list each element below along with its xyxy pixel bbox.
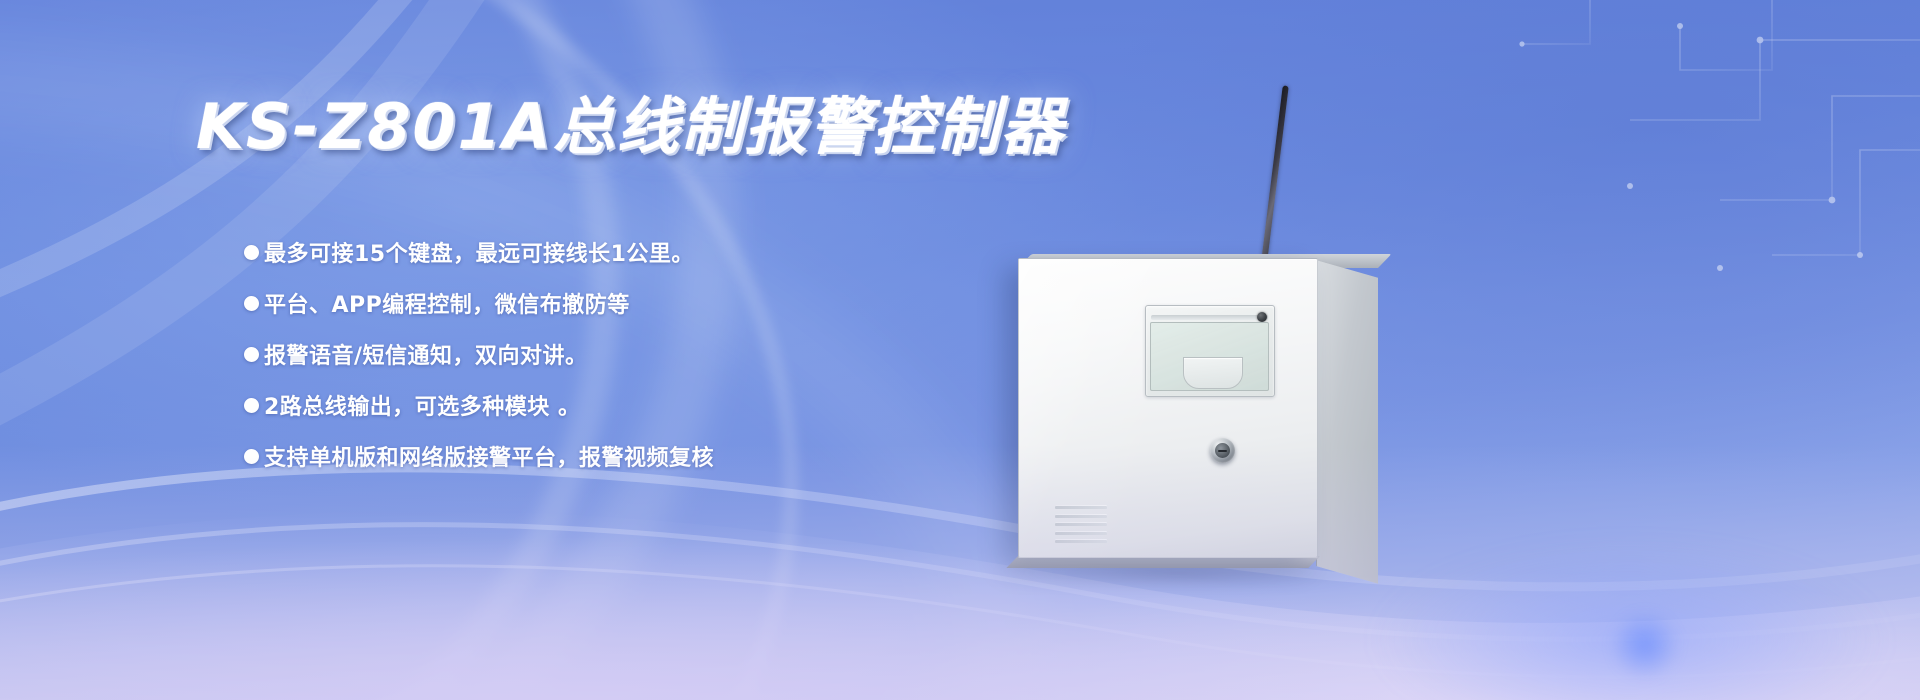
display-window: [1145, 305, 1275, 397]
bullet-icon: [244, 245, 259, 260]
list-item: 最多可接15个键盘，最远可接线长1公里。: [244, 236, 714, 268]
feature-text: 报警语音/短信通知，双向对讲。: [264, 338, 588, 370]
accent-glow-small: [1610, 610, 1680, 680]
bullet-icon: [244, 296, 259, 311]
status-led-icon: [1257, 312, 1267, 322]
page-title: KS-Z801A总线制报警控制器: [196, 76, 1065, 166]
pull-tab-icon: [1183, 357, 1243, 389]
feature-text: 平台、APP编程控制，微信布撤防等: [264, 287, 630, 319]
window-glass: [1150, 322, 1269, 391]
list-item: 平台、APP编程控制，微信布撤防等: [244, 287, 714, 319]
feature-text: 最多可接15个键盘，最远可接线长1公里。: [264, 236, 694, 268]
list-item: 报警语音/短信通知，双向对讲。: [244, 338, 714, 370]
product-banner: KS-Z801A总线制报警控制器 最多可接15个键盘，最远可接线长1公里。 平台…: [0, 0, 1920, 700]
window-slot: [1151, 315, 1268, 320]
bullet-icon: [244, 347, 259, 362]
